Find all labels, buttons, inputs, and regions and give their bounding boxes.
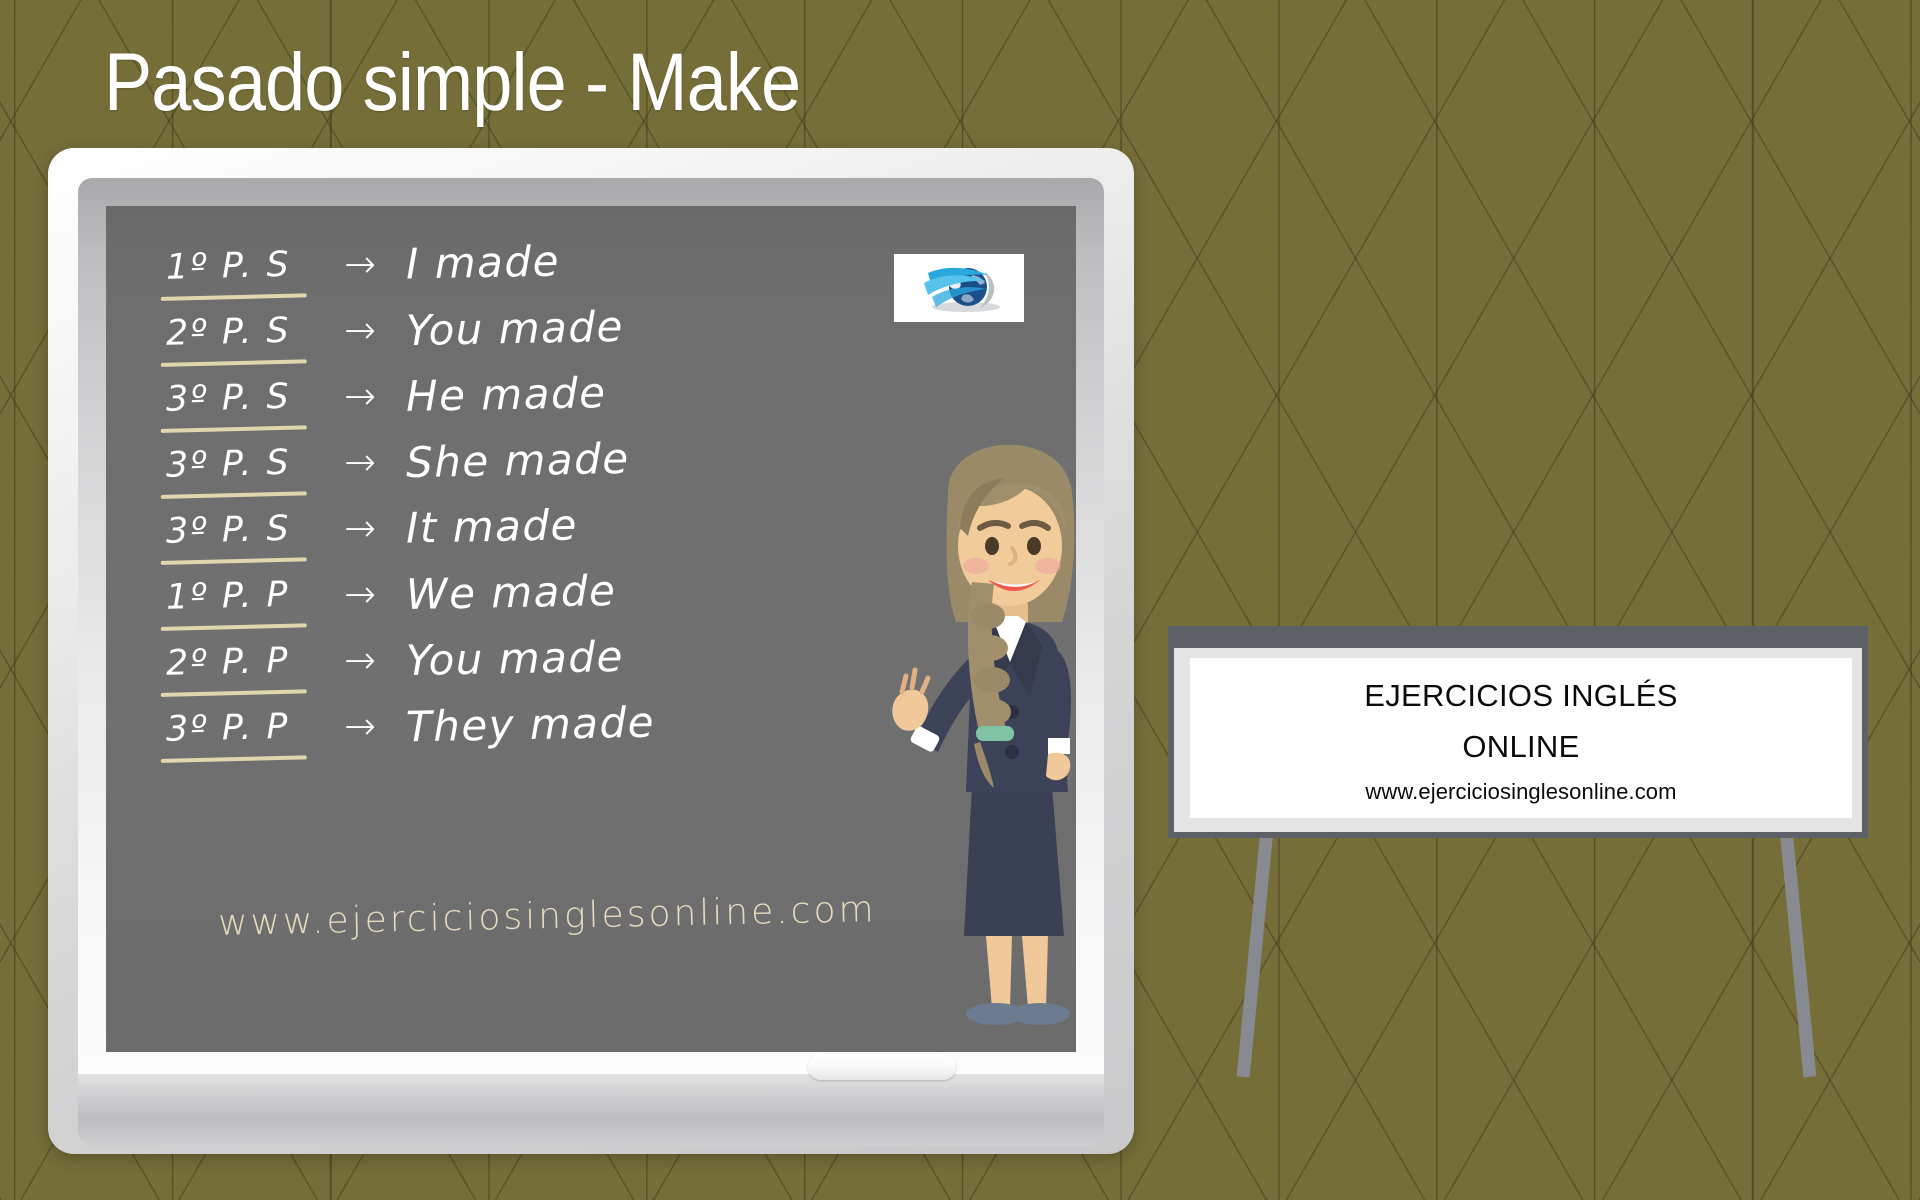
person-label: 3º P. P — [166, 706, 315, 750]
conjugation-row: 1º P. S → I made — [166, 238, 1058, 304]
easel-leg-left — [1237, 833, 1273, 1077]
conjugation-row: 2º P. P → You made — [166, 634, 1058, 700]
arrow-icon: → — [314, 440, 406, 484]
person-label: 1º P. P — [166, 574, 315, 618]
conjugation-list: 1º P. S → I made 2º P. S → You made 3º P… — [166, 238, 1058, 766]
chalkboard-ledge — [78, 1074, 1104, 1146]
conjugated-form: I made — [406, 237, 561, 289]
person-label: 1º P. S — [166, 244, 315, 288]
chalkboard-surface: 1º P. S → I made 2º P. S → You made 3º P… — [106, 206, 1076, 1052]
arrow-icon: → — [314, 638, 406, 682]
person-label: 3º P. S — [166, 508, 315, 552]
arrow-icon: → — [314, 374, 406, 418]
page-title: Pasado simple - Make — [104, 42, 800, 124]
chalkboard: 1º P. S → I made 2º P. S → You made 3º P… — [48, 148, 1134, 1154]
conjugated-form: She made — [406, 434, 631, 487]
conjugated-form: It made — [406, 500, 579, 552]
arrow-icon: → — [314, 308, 406, 352]
sign-url: www.ejerciciosinglesonline.com — [1365, 779, 1676, 805]
conjugation-row: 2º P. S → You made — [166, 304, 1058, 370]
person-label: 3º P. S — [166, 376, 315, 420]
person-label: 2º P. P — [166, 640, 315, 684]
arrow-icon: → — [314, 704, 406, 748]
conjugated-form: He made — [406, 368, 607, 421]
arrow-icon: → — [314, 572, 406, 616]
person-label: 2º P. S — [166, 310, 315, 354]
easel-sign: EJERCICIOS INGLÉS ONLINE www.ejerciciosi… — [1168, 626, 1920, 1200]
arrow-icon: → — [314, 242, 406, 286]
conjugation-row: 1º P. P → We made — [166, 568, 1058, 634]
chalkboard-website-text: www.ejerciciosinglesonline.com — [218, 889, 877, 944]
sign-title-line-1: EJERCICIOS INGLÉS — [1364, 671, 1677, 721]
easel-leg-right — [1780, 833, 1816, 1077]
person-label: 3º P. S — [166, 442, 315, 486]
sign-title: EJERCICIOS INGLÉS ONLINE — [1364, 671, 1677, 771]
sign-inner-frame: EJERCICIOS INGLÉS ONLINE www.ejerciciosi… — [1174, 648, 1862, 832]
conjugation-row: 3º P. S → He made — [166, 370, 1058, 436]
sign-paper: EJERCICIOS INGLÉS ONLINE www.ejerciciosi… — [1190, 658, 1852, 818]
conjugation-row: 3º P. S → It made — [166, 502, 1058, 568]
conjugated-form: You made — [406, 302, 625, 355]
conjugated-form: We made — [406, 566, 617, 619]
arrow-icon: → — [314, 506, 406, 550]
sign-board: EJERCICIOS INGLÉS ONLINE www.ejerciciosi… — [1168, 626, 1868, 838]
conjugation-row: 3º P. S → She made — [166, 436, 1058, 502]
chalk-eraser[interactable] — [808, 1054, 956, 1080]
conjugation-row: 3º P. P → They made — [166, 700, 1058, 766]
conjugated-form: They made — [406, 698, 656, 752]
sign-title-line-2: ONLINE — [1364, 722, 1677, 772]
conjugated-form: You made — [406, 632, 625, 685]
